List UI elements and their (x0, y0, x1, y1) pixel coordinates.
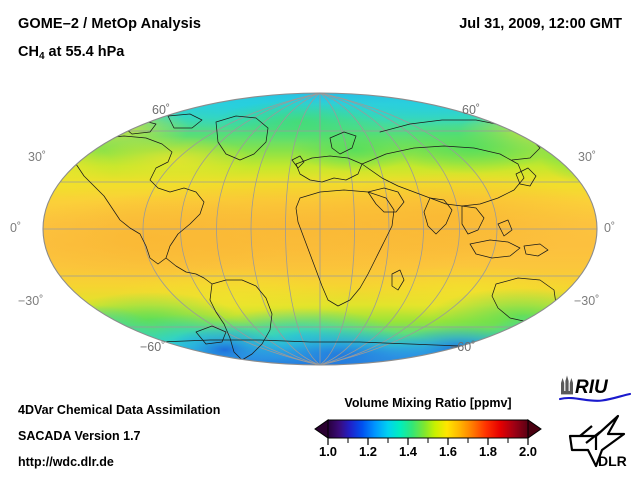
dlr-wordmark: DLR (598, 453, 627, 469)
riu-tower-icon (561, 376, 573, 395)
lat-label-left-0: 0˚ (10, 221, 21, 235)
assimilation-method-label: 4DVar Chemical Data Assimilation (18, 403, 220, 417)
dlr-logo: DLR (566, 412, 628, 470)
species-prefix: CH (18, 44, 39, 60)
colorbar-tick-labels: 1.0 1.2 1.4 1.6 1.8 2.0 (312, 444, 544, 462)
colorbar-tick-2: 1.2 (359, 444, 377, 459)
colorbar: Volume Mixing Ratio [ppmv] (312, 396, 544, 472)
colorbar-cap-high (528, 420, 541, 438)
version-label: SACADA Version 1.7 (18, 429, 141, 443)
colorbar-title: Volume Mixing Ratio [ppmv] (312, 396, 544, 410)
lat-label-inner-right-60: 60˚ (462, 103, 480, 117)
riu-logo: RIU (558, 374, 634, 404)
riu-wordmark: RIU (575, 377, 609, 398)
colorbar-tick-5: 1.8 (479, 444, 497, 459)
website-url-label: http://wdc.dlr.de (18, 455, 114, 469)
colorbar-tick-4: 1.6 (439, 444, 457, 459)
colorbar-cap-low (315, 420, 328, 438)
map-panel: 30˚ 30˚ 0˚ 0˚ −30˚ −30˚ 60˚ 60˚ −60˚ −60… (0, 88, 640, 380)
lat-label-right-30: 30˚ (578, 150, 596, 164)
lat-label-inner-left-m60: −60˚ (140, 340, 165, 354)
lat-label-right-0: 0˚ (604, 221, 615, 235)
colorbar-tick-1: 1.0 (319, 444, 337, 459)
ch4-data-field (5, 88, 640, 380)
lat-label-inner-right-m60: −60˚ (450, 340, 475, 354)
lat-label-left-m30: −30˚ (18, 294, 43, 308)
colorbar-tick-6: 2.0 (519, 444, 537, 459)
lat-label-left-30: 30˚ (28, 150, 46, 164)
lat-label-right-m30: −30˚ (574, 294, 599, 308)
lat-label-inner-left-60: 60˚ (152, 103, 170, 117)
colorbar-minor-ticks (348, 438, 508, 443)
mollweide-map (0, 88, 640, 380)
species-level-label: CH4 at 55.4 hPa (18, 44, 124, 60)
species-subscript: 4 (39, 51, 45, 62)
colorbar-gradient (328, 420, 528, 438)
species-suffix: at 55.4 hPa (45, 44, 125, 60)
page-title: GOME–2 / MetOp Analysis (18, 16, 201, 32)
colorbar-tick-3: 1.4 (399, 444, 417, 459)
timestamp-label: Jul 31, 2009, 12:00 GMT (459, 16, 622, 32)
